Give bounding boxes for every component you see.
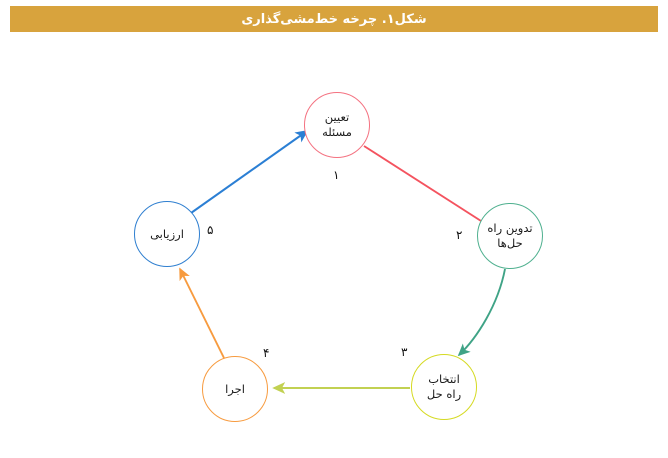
step-number-2: ۲	[456, 228, 462, 242]
node-label: انتخاب راه حل	[427, 372, 461, 401]
arrow-4-to-5	[180, 269, 224, 358]
node-solution-formulation[interactable]: تدوین راه حل‌ها	[477, 203, 543, 269]
node-label: تدوین راه حل‌ها	[487, 221, 532, 250]
step-number-3: ۳	[401, 345, 407, 359]
step-number-1: ۱	[333, 168, 339, 182]
cycle-arrows	[0, 0, 668, 458]
arrow-2-to-3	[459, 269, 505, 355]
arrow-5-to-1	[191, 131, 307, 213]
step-number-4: ۴	[263, 346, 269, 360]
figure-page: شکل۱. چرخه خط‌مشی‌گذاری	[0, 0, 668, 458]
node-implementation[interactable]: اجرا	[202, 356, 268, 422]
node-label: اجرا	[225, 382, 245, 397]
node-label: ارزیابی	[150, 227, 184, 242]
node-evaluation[interactable]: ارزیابی	[134, 201, 200, 267]
arrow-1-to-2	[364, 146, 492, 228]
step-number-5: ۵	[207, 223, 213, 237]
node-solution-selection[interactable]: انتخاب راه حل	[411, 354, 477, 420]
policy-cycle-diagram: تعیین مسئله ۱ تدوین راه حل‌ها ۲ انتخاب ر…	[0, 0, 668, 458]
node-problem-definition[interactable]: تعیین مسئله	[304, 92, 370, 158]
node-label: تعیین مسئله	[322, 110, 352, 139]
